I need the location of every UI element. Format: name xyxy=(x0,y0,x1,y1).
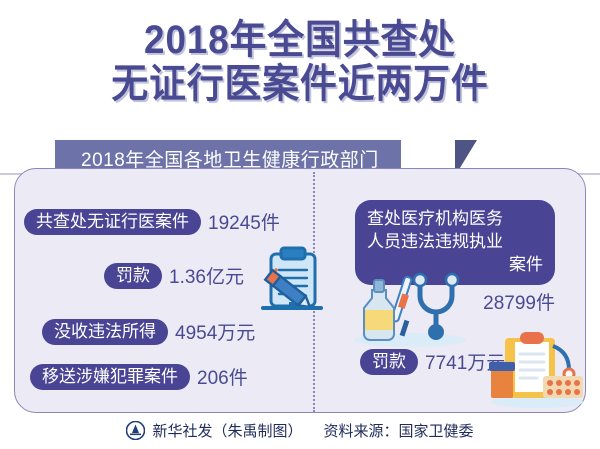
page-title: 2018年全国共查处 无证行医案件近两万件 xyxy=(0,18,600,106)
stat-label-fine-left: 罚款 xyxy=(104,263,162,289)
right-header-line-2: 人员违法违规执业 xyxy=(367,230,543,253)
stat-row-fine-right: 罚款7741万元 xyxy=(360,348,505,375)
stat-value-cases: 19245件 xyxy=(208,208,280,235)
stat-row-fine-left: 罚款1.36亿元 xyxy=(104,262,244,289)
xinhua-logo-icon xyxy=(126,421,145,440)
footer-credit: 新华社发（朱禹制图） xyxy=(152,420,302,441)
bottle-icon xyxy=(364,280,394,340)
title-line-2: 无证行医案件近两万件 xyxy=(24,62,576,106)
stat-label-confiscate: 没收违法所得 xyxy=(42,319,168,345)
clipboard-pencil-icon xyxy=(255,246,333,322)
infographic-root: 2018年全国共查处 无证行医案件近两万件 2018年全国各地卫生健康行政部门 … xyxy=(0,0,600,449)
pill-bottle-icon xyxy=(489,362,515,398)
title-line-1: 2018年全国共查处 xyxy=(24,18,576,62)
stat-row-confiscate: 没收违法所得4954万元 xyxy=(42,318,255,345)
stat-label-transfer: 移送涉嫌犯罪案件 xyxy=(30,364,190,390)
stat-row-cases: 共查处无证行医案件19245件 xyxy=(24,208,280,235)
stat-label-cases: 共查处无证行医案件 xyxy=(24,209,201,235)
stat-label-fine-right: 罚款 xyxy=(360,349,418,375)
blister-pack-icon xyxy=(543,376,583,398)
stat-row-transfer: 移送涉嫌犯罪案件206件 xyxy=(30,363,248,390)
footer: 新华社发（朱禹制图） 资料来源：国家卫健委 xyxy=(0,420,600,441)
right-header-line-1: 查处医疗机构医务 xyxy=(367,207,543,230)
stethoscope-icon xyxy=(420,282,452,326)
stat-value-fine-left: 1.36亿元 xyxy=(169,262,244,289)
stat-value-confiscate: 4954万元 xyxy=(175,318,255,345)
clipboard-pills-icon xyxy=(487,332,587,408)
stat-value-transfer: 206件 xyxy=(197,363,248,390)
bottle-stethoscope-syringe-icon xyxy=(352,272,472,350)
footer-source: 资料来源：国家卫健委 xyxy=(324,420,474,441)
